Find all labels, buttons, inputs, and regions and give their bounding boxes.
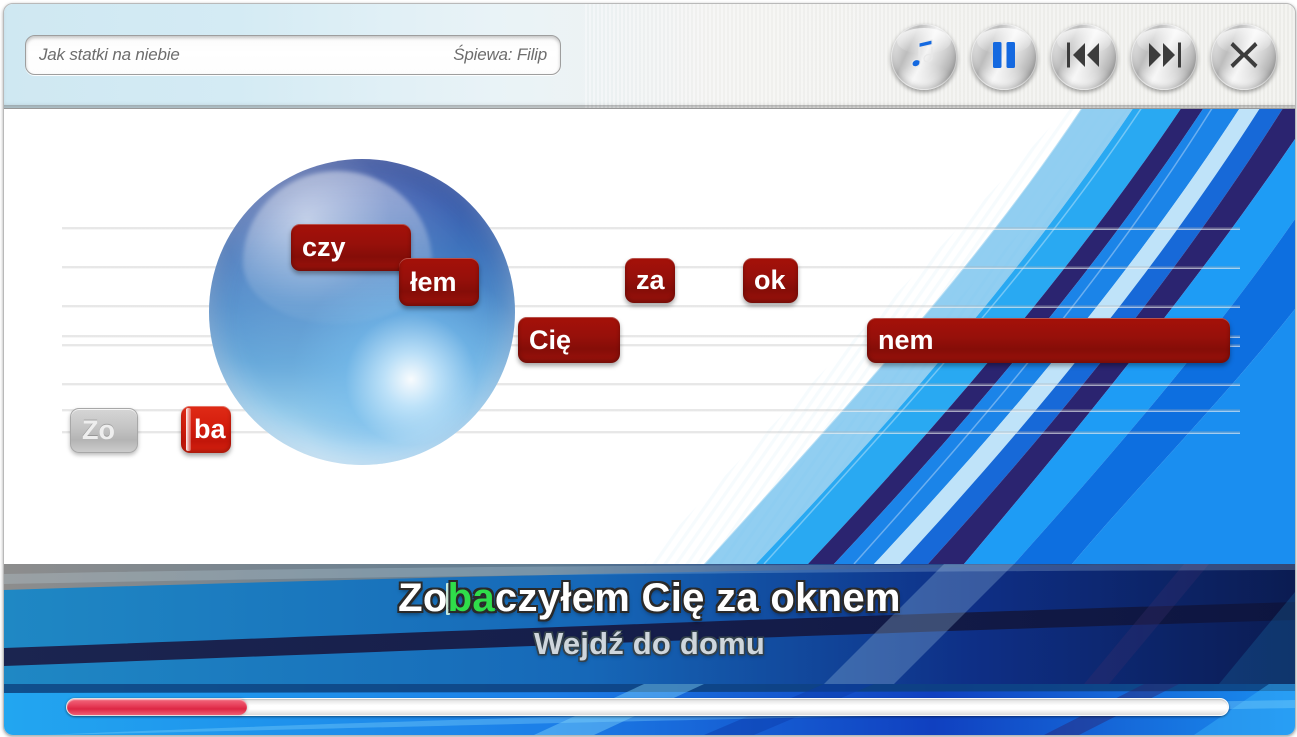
previous-button[interactable] (1051, 24, 1117, 90)
note-block: za (625, 258, 675, 303)
note-progress-cursor (186, 408, 191, 451)
lyric-sung: ba (448, 576, 495, 620)
next-lyric-line: Wejdź do domu (4, 626, 1295, 662)
karaoke-window: Jak statki na niebie Śpiewa: Filip (3, 3, 1296, 736)
note-block: czy (291, 224, 411, 271)
pause-icon (991, 41, 1017, 74)
note-block: nem (867, 318, 1230, 363)
song-info-field[interactable]: Jak statki na niebie Śpiewa: Filip (25, 35, 561, 75)
note-label: Zo (82, 415, 115, 446)
note-block: ok (743, 258, 798, 303)
note-block: łem (399, 258, 479, 306)
lyric-before: Zo (398, 576, 447, 620)
footer-bar (4, 684, 1295, 735)
music-note-button[interactable] (891, 24, 957, 90)
note-block: ba (181, 406, 231, 453)
decorative-sphere (209, 159, 515, 465)
previous-icon (1066, 41, 1102, 74)
note-label: łem (410, 267, 457, 298)
title-bar: Jak statki na niebie Śpiewa: Filip (4, 4, 1295, 109)
singer-label: Śpiewa: Filip (453, 45, 547, 65)
lyrics-panel: Zobaczyłem Cię za oknem Wejdź do domu (4, 564, 1295, 684)
note-label: nem (878, 325, 934, 356)
note-label: Cię (529, 325, 571, 356)
current-lyric-line: Zobaczyłem Cię za oknem (4, 576, 1295, 621)
next-icon (1146, 41, 1182, 74)
lyric-after: czyłem Cię za oknem (495, 576, 901, 620)
close-x-icon (1229, 40, 1259, 75)
pause-button[interactable] (971, 24, 1037, 90)
playback-controls (891, 24, 1277, 90)
song-progress-fill (67, 699, 247, 715)
note-label: za (636, 265, 665, 296)
note-label: czy (302, 232, 346, 263)
note-block: Zo (70, 408, 138, 453)
close-button[interactable] (1211, 24, 1277, 90)
music-note-icon (909, 38, 939, 77)
note-label: ba (194, 414, 226, 445)
song-title: Jak statki na niebie (39, 45, 180, 65)
note-label: ok (754, 265, 786, 296)
next-button[interactable] (1131, 24, 1197, 90)
song-progress-bar[interactable] (66, 698, 1229, 716)
note-block: Cię (518, 317, 620, 363)
note-stage: ZobaczyłemCięzaoknem (4, 109, 1295, 564)
